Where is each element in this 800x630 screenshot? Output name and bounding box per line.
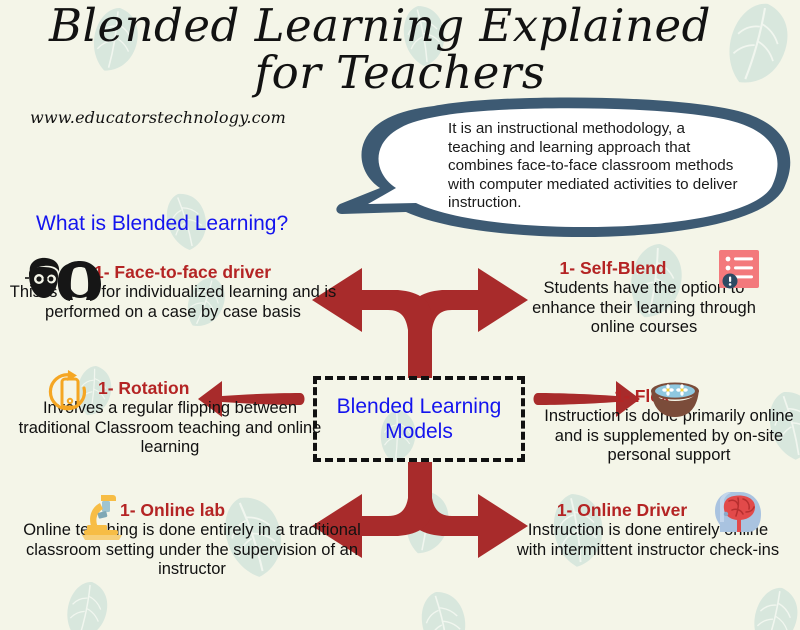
model-heading: 1- Flex	[540, 386, 744, 407]
model-body: Online teaching is done entirely in a tr…	[12, 521, 372, 580]
two-faces-icon	[18, 256, 102, 302]
title-line-2: for Teachers	[0, 49, 760, 96]
model-heading: 1- Online lab	[120, 500, 372, 521]
rotate-phone-icon	[44, 370, 94, 418]
checklist-icon	[716, 248, 764, 296]
speech-bubble: It is an instructional methodology, a te…	[334, 96, 800, 244]
question-label: What is Blended Learning?	[36, 212, 288, 236]
center-label: Blended Learning Models	[317, 394, 521, 444]
speech-bubble-text: It is an instructional methodology, a te…	[448, 120, 738, 213]
title-line-1: Blended Learning Explained	[0, 2, 760, 49]
model-online-lab: 1- Online lab Online teaching is done en…	[12, 500, 372, 580]
model-heading: 1- Online Driver	[512, 500, 732, 521]
page-title: Blended Learning Explained for Teachers	[0, 2, 760, 96]
model-heading: 1- Self-Blend	[510, 258, 716, 279]
infographic-canvas: Blended Learning Explained for Teachers …	[0, 0, 800, 630]
model-heading: 1- Face-to-face driver	[94, 262, 338, 283]
microscope-icon	[76, 492, 130, 542]
model-heading: 1- Rotation	[98, 378, 326, 399]
center-box: Blended Learning Models	[313, 376, 525, 462]
fork-up-arrow	[312, 268, 528, 378]
water-bowl-icon	[648, 378, 702, 420]
brain-head-icon	[712, 488, 764, 536]
site-url: www.educatorstechnology.com	[30, 108, 286, 127]
